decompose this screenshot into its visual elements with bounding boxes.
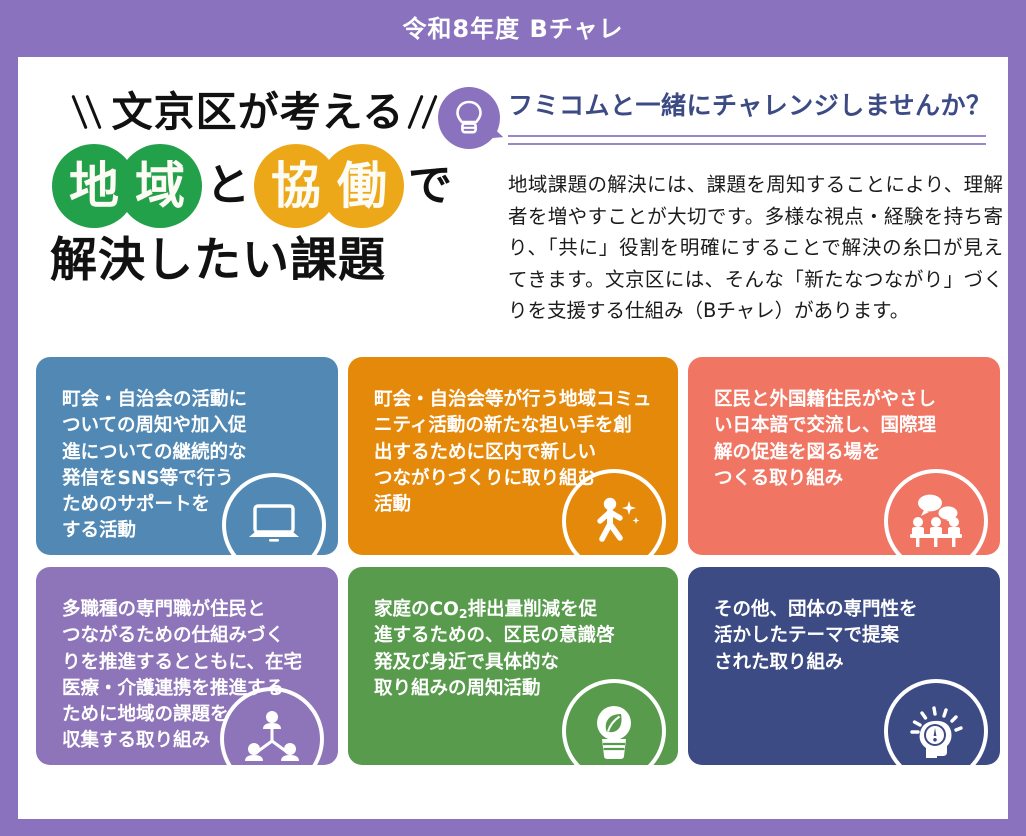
card-international-exchange[interactable]: 区民と外国籍住民がやさし い日本語で交流し、国際理 解の促進を図る場を つくる取… bbox=[688, 357, 1000, 555]
card-sns-support[interactable]: 町会・自治会の活動に ついての周知や加入促 進についての継続的な 発信をSNS等… bbox=[36, 357, 338, 555]
title-line1-row: 文京区が考える bbox=[48, 87, 468, 137]
lightbulb-speech-bubble-icon bbox=[438, 87, 500, 149]
head-idea-meter-icon bbox=[884, 679, 988, 765]
title-block: 文京区が考える 地 域 と 協 働 で 解決したい課題 bbox=[48, 87, 468, 284]
card-other-proposals[interactable]: その他、団体の専門性を 活かしたテーマで提案 された取り組み bbox=[688, 567, 1000, 765]
lead-body-text: 地域課題の解決には、課題を周知することにより、理解者を増やすことが大切です。多様… bbox=[508, 169, 1003, 327]
lead-column: フミコムと一緒にチャレンジしませんか？ 地域課題の解決には、課題を周知することに… bbox=[486, 91, 986, 327]
title-line2-row: 地 域 と 協 働 で bbox=[52, 143, 468, 229]
title-line1: 文京区が考える bbox=[112, 92, 405, 133]
page-title: 令和8年度 Bチャレ bbox=[402, 17, 623, 41]
title-line3: 解決したい課題 bbox=[50, 237, 468, 284]
poster-root: 令和8年度 Bチャレ 文京区が考える 地 域 と 協 働 で 解 bbox=[0, 0, 1026, 836]
slash-lines-left-icon bbox=[72, 90, 112, 134]
card-co2-reduction[interactable]: 家庭のCO2排出量削減を促 進するための、区民の意識啓 発及び身近で具体的な 取… bbox=[348, 567, 678, 765]
header-bar: 令和8年度 Bチャレ bbox=[0, 0, 1026, 57]
card-community-new-leaders[interactable]: 町会・自治会等が行う地域コミュ ニティ活動の新たな担い手を創 出するために区内で… bbox=[348, 357, 678, 555]
card-text: その他、団体の専門性を 活かしたテーマで提案 された取り組み bbox=[714, 597, 980, 676]
heading-underline bbox=[508, 135, 986, 145]
title-suffix: で bbox=[404, 164, 456, 208]
lead-heading-row: フミコムと一緒にチャレンジしませんか？ bbox=[486, 91, 986, 153]
card-home-care-coordination[interactable]: 多職種の専門職が住民と つながるための仕組みづく りを推進するとともに、在宅 医… bbox=[36, 567, 338, 765]
title-circle-dou: 働 bbox=[320, 144, 404, 228]
cards-grid: 町会・自治会の活動に ついての周知や加入促 進についての継続的な 発信をSNS等… bbox=[36, 357, 996, 765]
title-conjunction: と bbox=[202, 164, 254, 208]
title-circle-iki: 域 bbox=[118, 144, 202, 228]
content-panel: 文京区が考える 地 域 と 協 働 で 解決したい課題 bbox=[18, 57, 1008, 819]
lead-heading: フミコムと一緒にチャレンジしませんか？ bbox=[508, 93, 992, 118]
